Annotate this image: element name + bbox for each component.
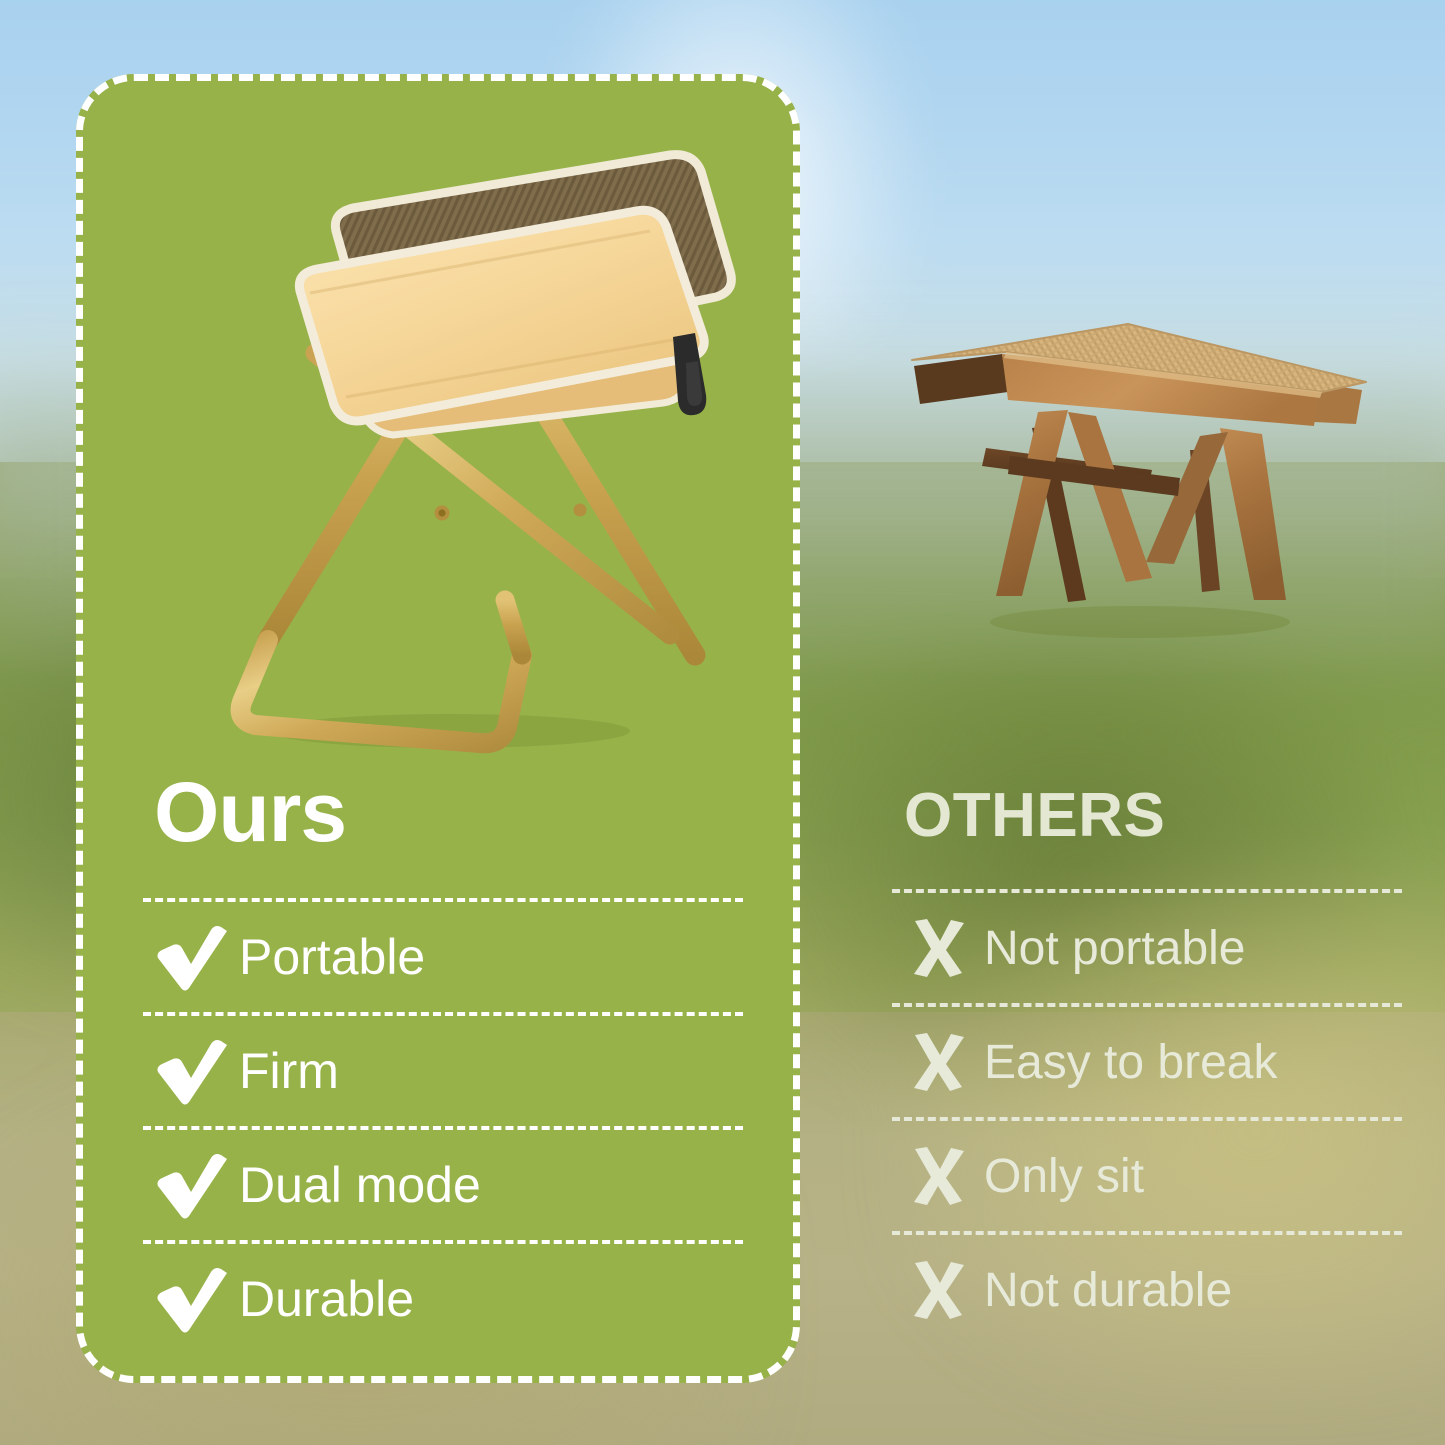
ours-feature-label: Dual mode <box>239 1156 481 1214</box>
ours-feature-row: Dual mode <box>143 1126 743 1240</box>
ours-product-image <box>150 95 730 755</box>
others-feature-row: Easy to break <box>892 1003 1402 1117</box>
cross-icon <box>892 1031 984 1093</box>
ours-heading: Ours <box>143 770 743 854</box>
others-feature-row: Only sit <box>892 1117 1402 1231</box>
cross-icon <box>892 1259 984 1321</box>
others-feature-label: Not portable <box>984 921 1246 976</box>
ours-feature-row: Durable <box>143 1240 743 1354</box>
ours-feature-label: Durable <box>239 1270 414 1328</box>
ours-feature-row: Portable <box>143 898 743 1012</box>
cross-icon <box>892 917 984 979</box>
others-column: OTHERS Not portable Easy to break <box>892 785 1402 1345</box>
others-feature-label: Easy to break <box>984 1035 1277 1090</box>
ours-feature-row: Firm <box>143 1012 743 1126</box>
others-feature-list: Not portable Easy to break Only sit <box>892 889 1402 1345</box>
others-feature-row: Not durable <box>892 1231 1402 1345</box>
ours-feature-label: Portable <box>239 928 425 986</box>
others-feature-label: Not durable <box>984 1263 1232 1318</box>
others-product-image <box>890 300 1380 660</box>
others-heading: OTHERS <box>892 785 1402 847</box>
cross-icon <box>892 1145 984 1207</box>
ours-column: Ours Portable Firm <box>143 770 743 1354</box>
check-icon <box>143 922 239 992</box>
ours-feature-list: Portable Firm Dual mode <box>143 898 743 1354</box>
check-icon <box>143 1150 239 1220</box>
check-icon <box>143 1264 239 1334</box>
comparison-infographic: Ours Portable Firm <box>0 0 1445 1445</box>
check-icon <box>143 1036 239 1106</box>
ours-feature-label: Firm <box>239 1042 339 1100</box>
others-feature-label: Only sit <box>984 1149 1144 1204</box>
others-feature-row: Not portable <box>892 889 1402 1003</box>
